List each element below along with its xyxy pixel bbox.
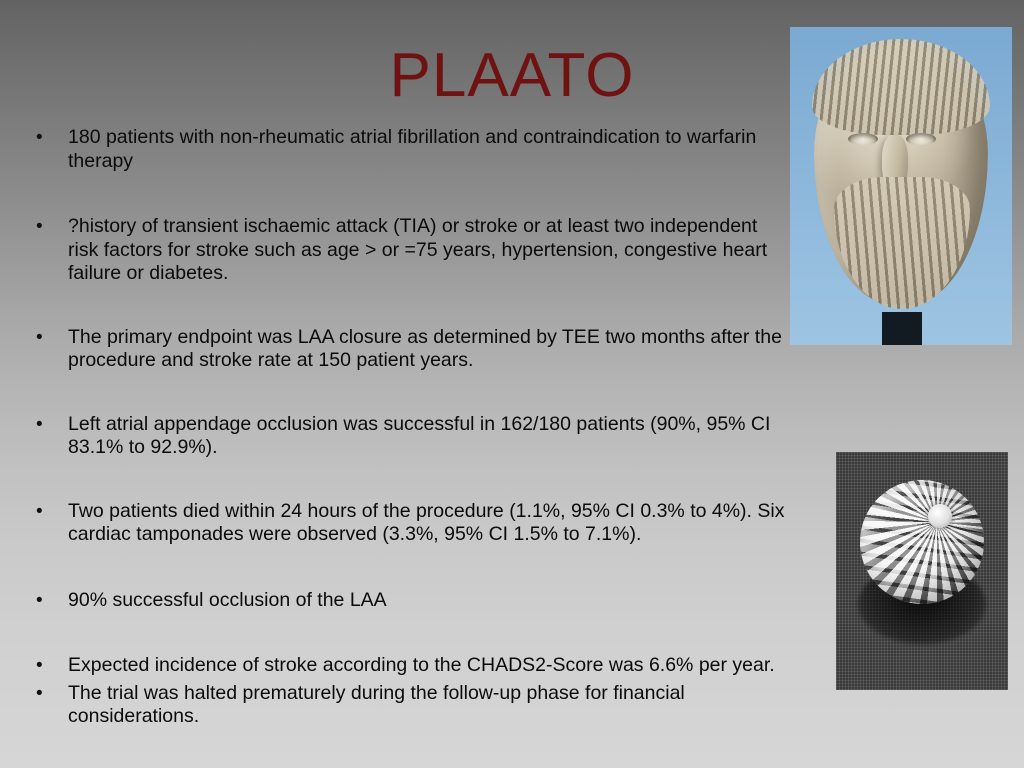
bust-right-eye-shape [906,133,936,145]
bullet-occlusion-success: • Left atrial appendage occlusion was su… [26,413,786,460]
bullet-marker-icon: • [36,682,50,706]
bullet-marker-icon: • [36,215,50,239]
bullet-patients-enrolled: • 180 patients with non-rheumatic atrial… [26,126,786,173]
bullet-spacer [26,173,786,215]
plaato-occluder-device-photo [836,452,1008,690]
device-strut-bands-shape [860,480,984,604]
bullet-success-rate: • 90% successful occlusion of the LAA [26,589,786,613]
bullet-text: ?history of transient ischaemic attack (… [68,215,786,286]
bullet-text: Two patients died within 24 hours of the… [68,500,786,547]
bullet-marker-icon: • [36,654,50,678]
bust-left-eye-shape [848,133,878,145]
bullet-text: 90% successful occlusion of the LAA [68,589,786,613]
bullet-spacer [26,612,786,654]
bust-beard-shape [834,177,970,309]
slide-body-bullet-list: • 180 patients with non-rheumatic atrial… [26,126,786,729]
bust-hair-shape [812,39,990,135]
bullet-spacer [26,373,786,413]
bullet-marker-icon: • [36,589,50,613]
bullet-marker-icon: • [36,413,50,437]
device-hub-shape [928,504,952,528]
bullet-text: The primary endpoint was LAA closure as … [68,326,786,373]
bullet-spacer [26,286,786,326]
bullet-text: 180 patients with non-rheumatic atrial f… [68,126,786,173]
bullet-text: Expected incidence of stroke according t… [68,654,786,678]
bullet-marker-icon: • [36,126,50,150]
bullet-primary-endpoint: • The primary endpoint was LAA closure a… [26,326,786,373]
bust-pedestal-shape [882,312,922,345]
bullet-marker-icon: • [36,500,50,524]
bullet-spacer [26,460,786,500]
presentation-slide: PLAATO • 180 patients with non-rheumatic… [0,0,1024,768]
bullet-inclusion-criteria: • ?history of transient ischaemic attack… [26,215,786,286]
marble-bust-of-plato-photo [790,27,1012,345]
bullet-text: The trial was halted prematurely during … [68,682,786,729]
bullet-spacer [26,547,786,589]
bullet-chads2-expected: • Expected incidence of stroke according… [26,654,786,678]
bullet-trial-halted: • The trial was halted prematurely durin… [26,682,786,729]
bullet-text: Left atrial appendage occlusion was succ… [68,413,786,460]
bullet-marker-icon: • [36,326,50,350]
bullet-complications: • Two patients died within 24 hours of t… [26,500,786,547]
